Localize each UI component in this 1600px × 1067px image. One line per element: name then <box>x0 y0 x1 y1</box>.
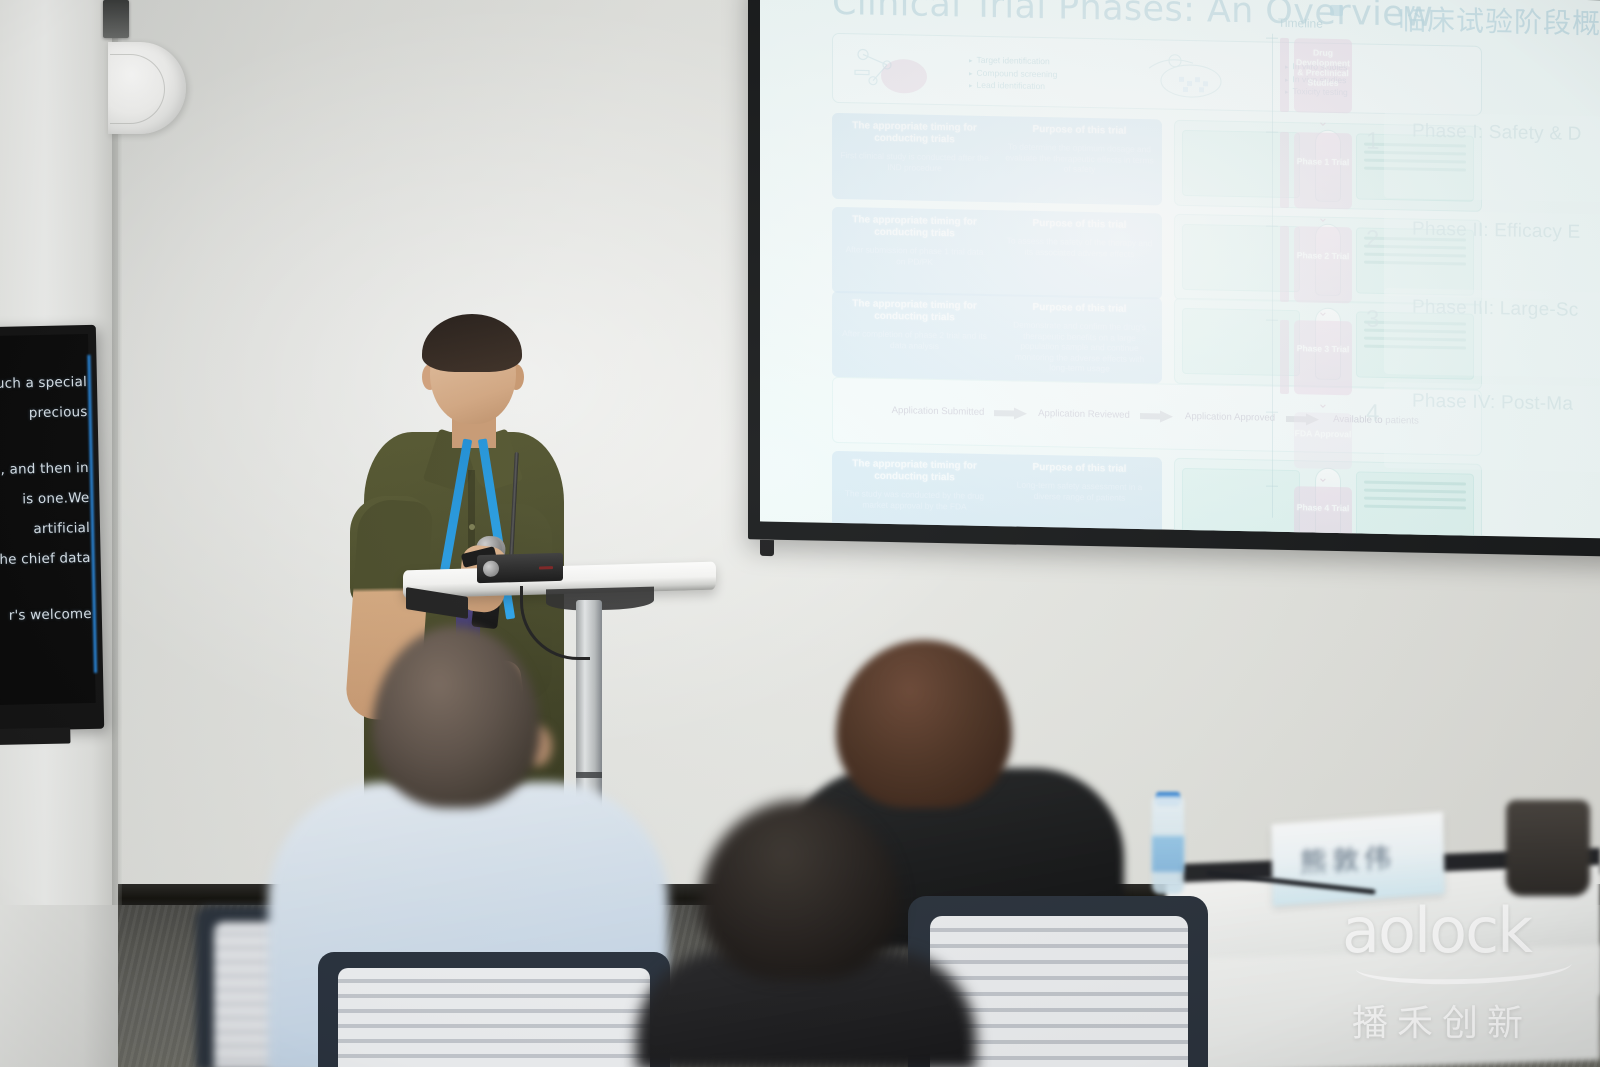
phase-label: Phase III: Large-Sc <box>1412 296 1578 321</box>
caption-line: precious <box>29 404 88 421</box>
row-timing-body: After submission of phase 1 trial data o… <box>840 244 989 268</box>
phase-number: 1 <box>1366 128 1379 156</box>
attendee-table-front <box>1186 945 1600 1067</box>
attendee-1-chair-cushion <box>338 968 650 1067</box>
projection-screen: Clinical Trial Phases: An Overview 临床试验阶… <box>748 0 1600 557</box>
chevron-down-icon: ⌄ <box>1312 304 1334 317</box>
row-timing-body: After completion of phase 2 trial and it… <box>840 328 989 352</box>
row-timing-header: The appropriate timing for conducting tr… <box>840 214 989 241</box>
timeline-node: Phase 3 Trial <box>1294 320 1352 395</box>
row-timing-header: The appropriate timing for conducting tr… <box>840 458 989 485</box>
caption-line: is one.We <box>22 490 89 507</box>
approval-step: Application Reviewed <box>1032 408 1136 422</box>
caption-line: such a special <box>0 374 87 392</box>
chevron-down-icon: ⌄ <box>1312 114 1334 127</box>
name-placard-text: 熊敦伟 <box>1300 835 1420 880</box>
row-purpose-header: Purpose of this trial <box>1005 301 1154 316</box>
row-purpose-body: Demonstrate and confirm the drug's thera… <box>1005 319 1154 375</box>
illustration-box <box>1182 468 1300 536</box>
row-purpose-body: Long-term safety assessment in a diverse… <box>1005 479 1154 503</box>
row-purpose-body: To determine the optimum dosage and eval… <box>1005 141 1154 176</box>
row-purpose-header: Purpose of this trial <box>1005 217 1154 232</box>
timeline-node-badge <box>1330 5 1343 16</box>
ceiling-bracket <box>103 0 129 38</box>
screen-mount-tab <box>760 540 774 556</box>
timeline-node: Phase 2 Trial <box>1294 226 1352 303</box>
row-timing-body: First clinical study is conducted after … <box>840 150 989 174</box>
chevron-down-icon: ⌄ <box>1312 470 1334 483</box>
mouse-lab-icon <box>1129 46 1239 108</box>
row-timing-header: The appropriate timing for conducting tr… <box>840 120 989 147</box>
arrow-right-icon <box>1140 410 1174 423</box>
row-timing-body: The study was conducted by the drug mark… <box>840 488 989 512</box>
caption-line: artificial <box>33 520 90 537</box>
phase-number: 3 <box>1366 306 1379 334</box>
side-monitor: such a special precious , and then in is… <box>0 325 104 731</box>
timeline-node: Phase 4 Trial <box>1294 486 1352 539</box>
pillar-base <box>0 905 118 1067</box>
discovery-left-bullets: Target identification Compound screening… <box>969 55 1057 94</box>
row-purpose-header: Purpose of this trial <box>1005 461 1154 476</box>
caption-line: r's welcome <box>9 606 92 624</box>
shirt-button <box>469 524 475 530</box>
chevron-down-icon: ⌄ <box>1312 396 1334 409</box>
timeline-node: Drug Development & Preclinical Studies <box>1294 38 1352 113</box>
row-timing-header: The appropriate timing for conducting tr… <box>840 298 989 325</box>
desk-microphone-base <box>477 553 563 583</box>
arrow-right-icon <box>994 407 1028 420</box>
timeline-stripe <box>1280 226 1289 302</box>
mic-dial-icon <box>483 561 499 577</box>
illustration-lines <box>1356 471 1474 538</box>
bullet: Lead identification <box>969 80 1057 94</box>
bullet: Target identification <box>969 55 1057 69</box>
photo-scene: Clinical Trial Phases: An Overview 临床试验阶… <box>0 0 1600 1067</box>
monitor-stand <box>0 727 71 745</box>
caption-line: , and then in <box>0 460 89 478</box>
slide-content: Clinical Trial Phases: An Overview 临床试验阶… <box>760 0 1600 539</box>
presenter-hair <box>422 314 522 372</box>
phase-label: Phase IV: Post-Ma <box>1412 390 1573 415</box>
phase-number: 2 <box>1366 226 1379 254</box>
timeline-stripe <box>1280 320 1289 394</box>
mug <box>1506 800 1590 896</box>
approval-step: Application Approved <box>1178 411 1282 425</box>
chevron-down-icon: ⌄ <box>1312 210 1334 223</box>
row-purpose-header: Purpose of this trial <box>1005 123 1154 138</box>
approval-step: Application Submitted <box>886 405 990 419</box>
water-bottle-label <box>1152 836 1184 872</box>
caption-line: he chief data <box>0 550 91 568</box>
mic-led-indicator <box>539 566 553 569</box>
phase-number: 4 <box>1366 400 1379 428</box>
projection-screen-surface: Clinical Trial Phases: An Overview 临床试验阶… <box>760 0 1600 539</box>
pillar-edge <box>112 0 122 905</box>
podium-column-band <box>576 772 602 778</box>
phase-label: Phase II: Efficacy E <box>1412 218 1580 243</box>
timeline-node: FDA Approval <box>1294 412 1352 469</box>
discovery-band: Target identification Compound screening… <box>832 33 1482 116</box>
slide-title: Clinical Trial Phases: An Overview <box>832 0 1433 35</box>
timeline-stripe <box>1280 38 1289 112</box>
timeline-label: Timeline <box>1278 16 1323 31</box>
molecule-icon <box>847 42 931 100</box>
monitor-caption-text: such a special precious , and then in is… <box>0 367 92 631</box>
phase-label: Phase I: Safety & D <box>1412 120 1582 145</box>
timeline-stripe <box>1280 132 1289 208</box>
timeline-rail <box>1272 34 1273 518</box>
row-purpose-body: To assess the safety of the therapy and … <box>1005 235 1154 259</box>
slide-title-chinese: 临床试验阶段概览 <box>1398 0 1600 43</box>
timeline-node: Phase 1 Trial <box>1294 132 1352 209</box>
